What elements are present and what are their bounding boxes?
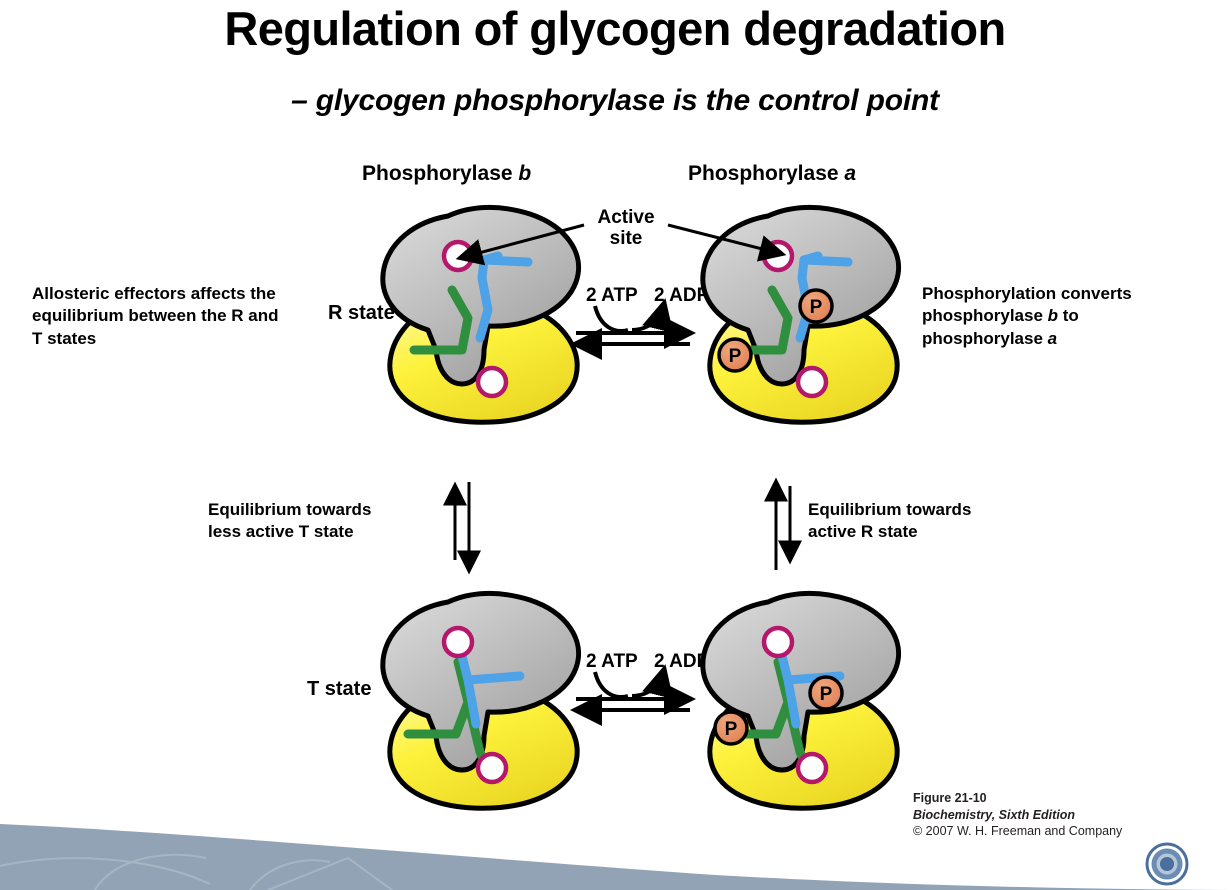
active-site-pointer-right [668,225,782,254]
label-t-state: T state [307,678,371,701]
active-site-pointer-left [460,225,584,258]
arrow-overlay [0,0,1230,890]
label-r-state: R state [328,302,395,325]
vertical-equilibrium-right [776,482,790,570]
curved-arrow-adp-top [632,304,664,330]
curved-arrow-adp-bottom [632,670,664,696]
slide-canvas: Regulation of glycogen degradation – gly… [0,0,1230,890]
curved-arrow-atp-top [595,306,628,331]
vertical-equilibrium-left [455,482,469,570]
reaction-arrow-top [576,304,690,344]
reaction-arrow-bottom [576,670,690,710]
curved-arrow-atp-bottom [595,672,628,697]
